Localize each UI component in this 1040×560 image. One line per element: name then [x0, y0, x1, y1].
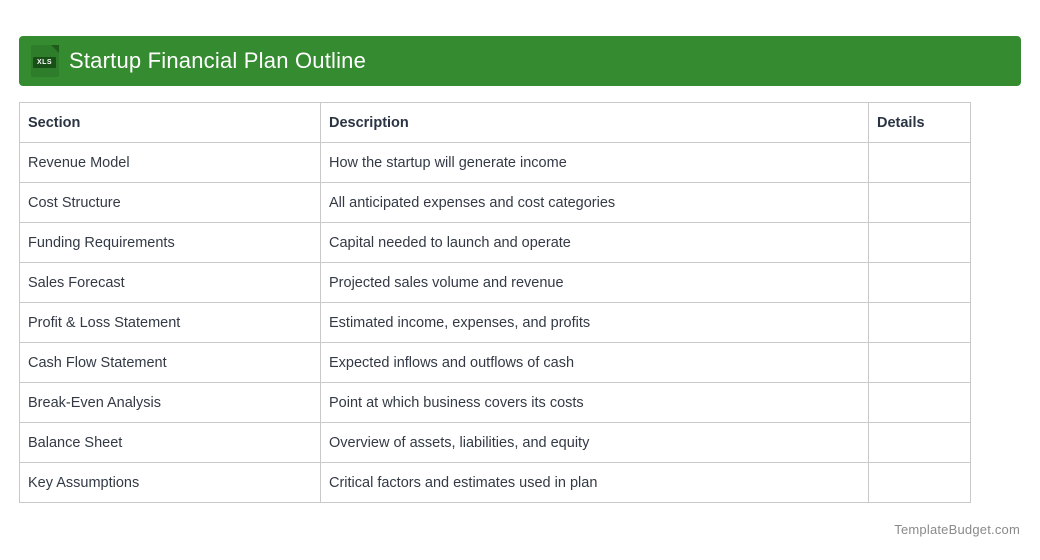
plan-table-head: Section Description Details — [20, 103, 971, 143]
cell-details[interactable] — [869, 303, 971, 343]
cell-section: Key Assumptions — [20, 463, 321, 503]
xls-file-icon: XLS — [31, 45, 59, 77]
table-row: Break-Even Analysis Point at which busin… — [20, 383, 971, 423]
cell-description: Overview of assets, liabilities, and equ… — [321, 423, 869, 463]
cell-section: Revenue Model — [20, 143, 321, 183]
page-root: XLS Startup Financial Plan Outline Secti… — [0, 0, 1040, 560]
cell-description: Expected inflows and outflows of cash — [321, 343, 869, 383]
cell-details[interactable] — [869, 343, 971, 383]
cell-details[interactable] — [869, 183, 971, 223]
cell-details[interactable] — [869, 223, 971, 263]
column-header-section: Section — [20, 103, 321, 143]
table-row: Key Assumptions Critical factors and est… — [20, 463, 971, 503]
cell-description: Capital needed to launch and operate — [321, 223, 869, 263]
cell-details[interactable] — [869, 463, 971, 503]
cell-section: Sales Forecast — [20, 263, 321, 303]
cell-section: Cash Flow Statement — [20, 343, 321, 383]
xls-icon-label: XLS — [33, 57, 56, 68]
table-row: Cash Flow Statement Expected inflows and… — [20, 343, 971, 383]
cell-details[interactable] — [869, 263, 971, 303]
table-row: Cost Structure All anticipated expenses … — [20, 183, 971, 223]
cell-details[interactable] — [869, 143, 971, 183]
cell-section: Cost Structure — [20, 183, 321, 223]
cell-section: Funding Requirements — [20, 223, 321, 263]
document-header-banner: XLS Startup Financial Plan Outline — [19, 36, 1021, 86]
table-row: Revenue Model How the startup will gener… — [20, 143, 971, 183]
cell-description: Critical factors and estimates used in p… — [321, 463, 869, 503]
site-watermark: TemplateBudget.com — [894, 522, 1020, 537]
plan-table: Section Description Details Revenue Mode… — [19, 102, 971, 503]
page-title: Startup Financial Plan Outline — [69, 48, 366, 74]
table-row: Profit & Loss Statement Estimated income… — [20, 303, 971, 343]
table-row: Sales Forecast Projected sales volume an… — [20, 263, 971, 303]
cell-description: Point at which business covers its costs — [321, 383, 869, 423]
cell-description: Projected sales volume and revenue — [321, 263, 869, 303]
cell-description: How the startup will generate income — [321, 143, 869, 183]
plan-table-container: Section Description Details Revenue Mode… — [19, 102, 971, 503]
cell-section: Profit & Loss Statement — [20, 303, 321, 343]
column-header-details: Details — [869, 103, 971, 143]
table-row: Balance Sheet Overview of assets, liabil… — [20, 423, 971, 463]
cell-description: Estimated income, expenses, and profits — [321, 303, 869, 343]
plan-table-body: Revenue Model How the startup will gener… — [20, 143, 971, 503]
column-header-description: Description — [321, 103, 869, 143]
cell-section: Balance Sheet — [20, 423, 321, 463]
cell-details[interactable] — [869, 383, 971, 423]
cell-section: Break-Even Analysis — [20, 383, 321, 423]
table-row: Funding Requirements Capital needed to l… — [20, 223, 971, 263]
cell-details[interactable] — [869, 423, 971, 463]
table-header-row: Section Description Details — [20, 103, 971, 143]
cell-description: All anticipated expenses and cost catego… — [321, 183, 869, 223]
